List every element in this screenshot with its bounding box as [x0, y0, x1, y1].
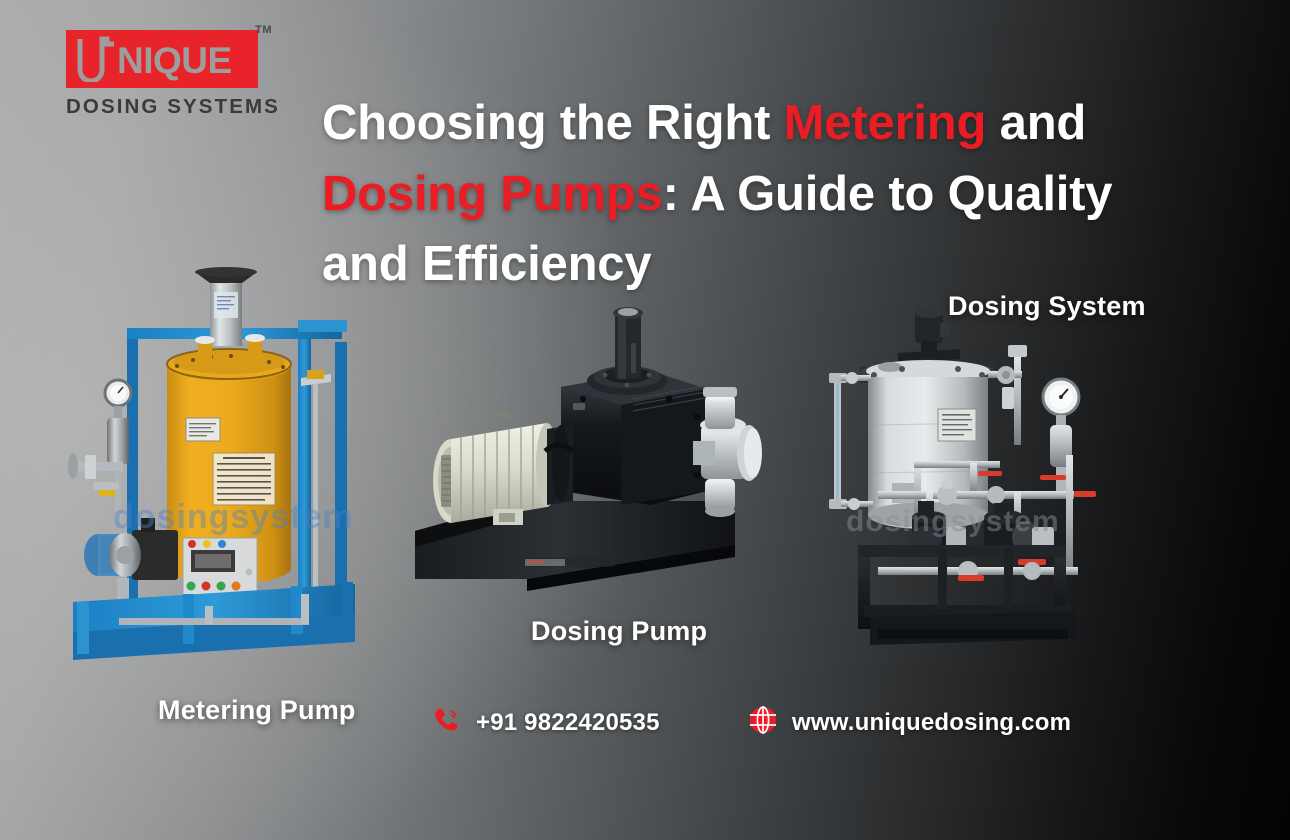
headline-highlight-metering: Metering — [784, 96, 987, 150]
page-title: Choosing the Right Metering and Dosing P… — [322, 88, 1202, 300]
logo-subtitle: DOSING SYSTEMS — [66, 95, 258, 119]
product-label-metering-pump: Metering Pump — [158, 695, 356, 726]
phone-icon — [432, 705, 462, 740]
trademark-symbol: TM — [255, 24, 272, 36]
headline-part-1: Choosing the Right — [322, 96, 784, 150]
product-image-metering-pump: dosingsystem — [55, 250, 395, 670]
beaker-u-icon — [74, 36, 118, 82]
company-logo: NIQUE TM DOSING SYSTEMS — [66, 30, 258, 119]
product-label-dosing-pump: Dosing Pump — [531, 616, 707, 647]
website-url: www.uniquedosing.com — [792, 709, 1071, 737]
contact-website[interactable]: www.uniquedosing.com — [748, 705, 1071, 740]
headline-highlight-dosing-pumps: Dosing Pumps — [322, 167, 663, 221]
logo-wordmark: NIQUE — [117, 42, 232, 79]
product-image-dosing-pump — [405, 295, 785, 595]
phone-number: +91 9822420535 — [476, 709, 660, 737]
headline-part-2: and — [986, 96, 1086, 150]
globe-icon — [748, 705, 778, 740]
logo-redbox: NIQUE TM — [66, 30, 258, 88]
contact-phone[interactable]: +91 9822420535 — [432, 705, 660, 740]
promotional-banner: NIQUE TM DOSING SYSTEMS Choosing the Rig… — [0, 0, 1290, 840]
product-image-dosing-system: dosingsystem — [818, 305, 1128, 655]
product-label-dosing-system: Dosing System — [948, 291, 1146, 322]
